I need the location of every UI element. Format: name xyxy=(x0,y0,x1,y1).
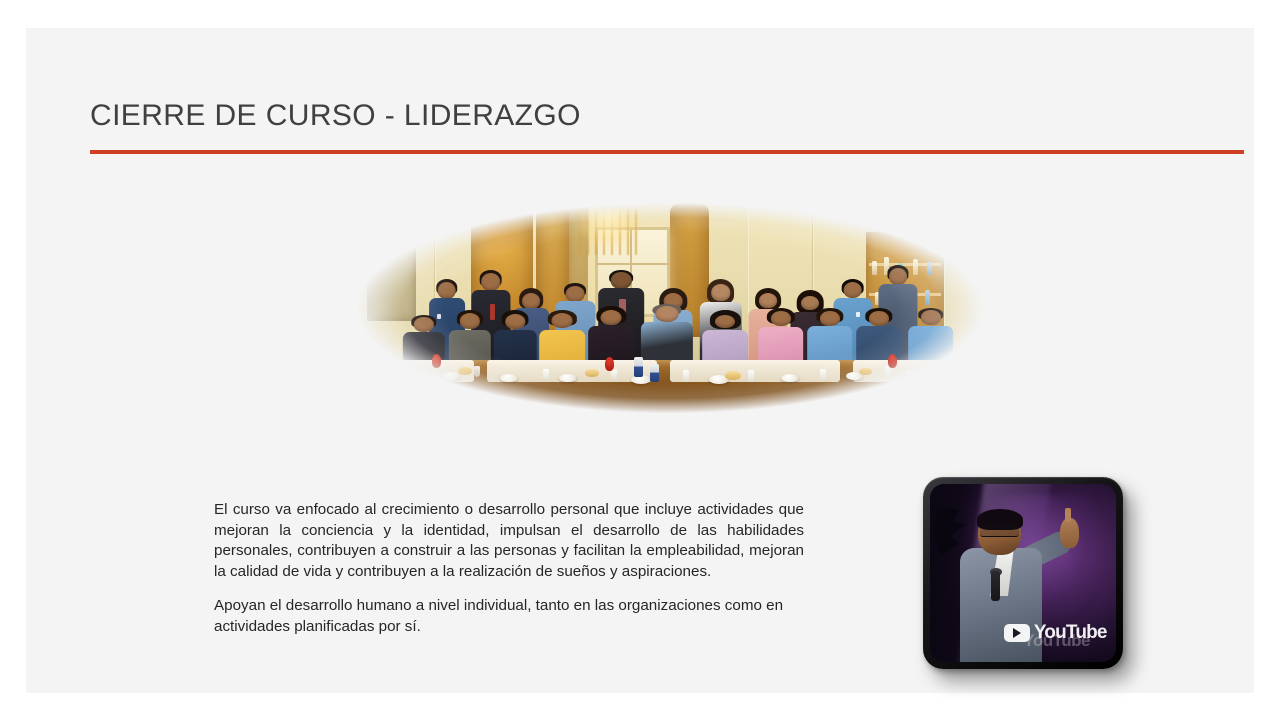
group-photo-oval-mask xyxy=(344,196,996,420)
video-thumbnail-image[interactable]: YouTube YouTube xyxy=(930,484,1116,662)
video-thumbnail-card[interactable]: YouTube YouTube xyxy=(923,477,1123,669)
slide-root: CIERRE DE CURSO - LIDERAZGO xyxy=(0,0,1280,720)
banquet-room-scene xyxy=(344,196,996,420)
speaker-hand xyxy=(1060,518,1079,548)
group-photo xyxy=(344,196,996,420)
youtube-wordmark: YouTube xyxy=(1034,623,1107,642)
body-paragraph-2: Apoyan el desarrollo humano a nivel indi… xyxy=(214,596,804,637)
body-paragraph-1: El curso va enfocado al crecimiento o de… xyxy=(214,500,804,582)
page-title: CIERRE DE CURSO - LIDERAZGO xyxy=(90,94,1250,138)
youtube-watermark: YouTube xyxy=(1004,623,1107,642)
slide-canvas: CIERRE DE CURSO - LIDERAZGO xyxy=(26,28,1254,693)
microphone-icon xyxy=(991,571,999,601)
body-text-block: El curso va enfocado al crecimiento o de… xyxy=(214,500,804,637)
glasses-icon xyxy=(980,526,1019,537)
youtube-play-icon xyxy=(1004,624,1030,642)
title-accent-rule xyxy=(90,150,1244,154)
speaker-pointing-finger xyxy=(1065,508,1071,522)
